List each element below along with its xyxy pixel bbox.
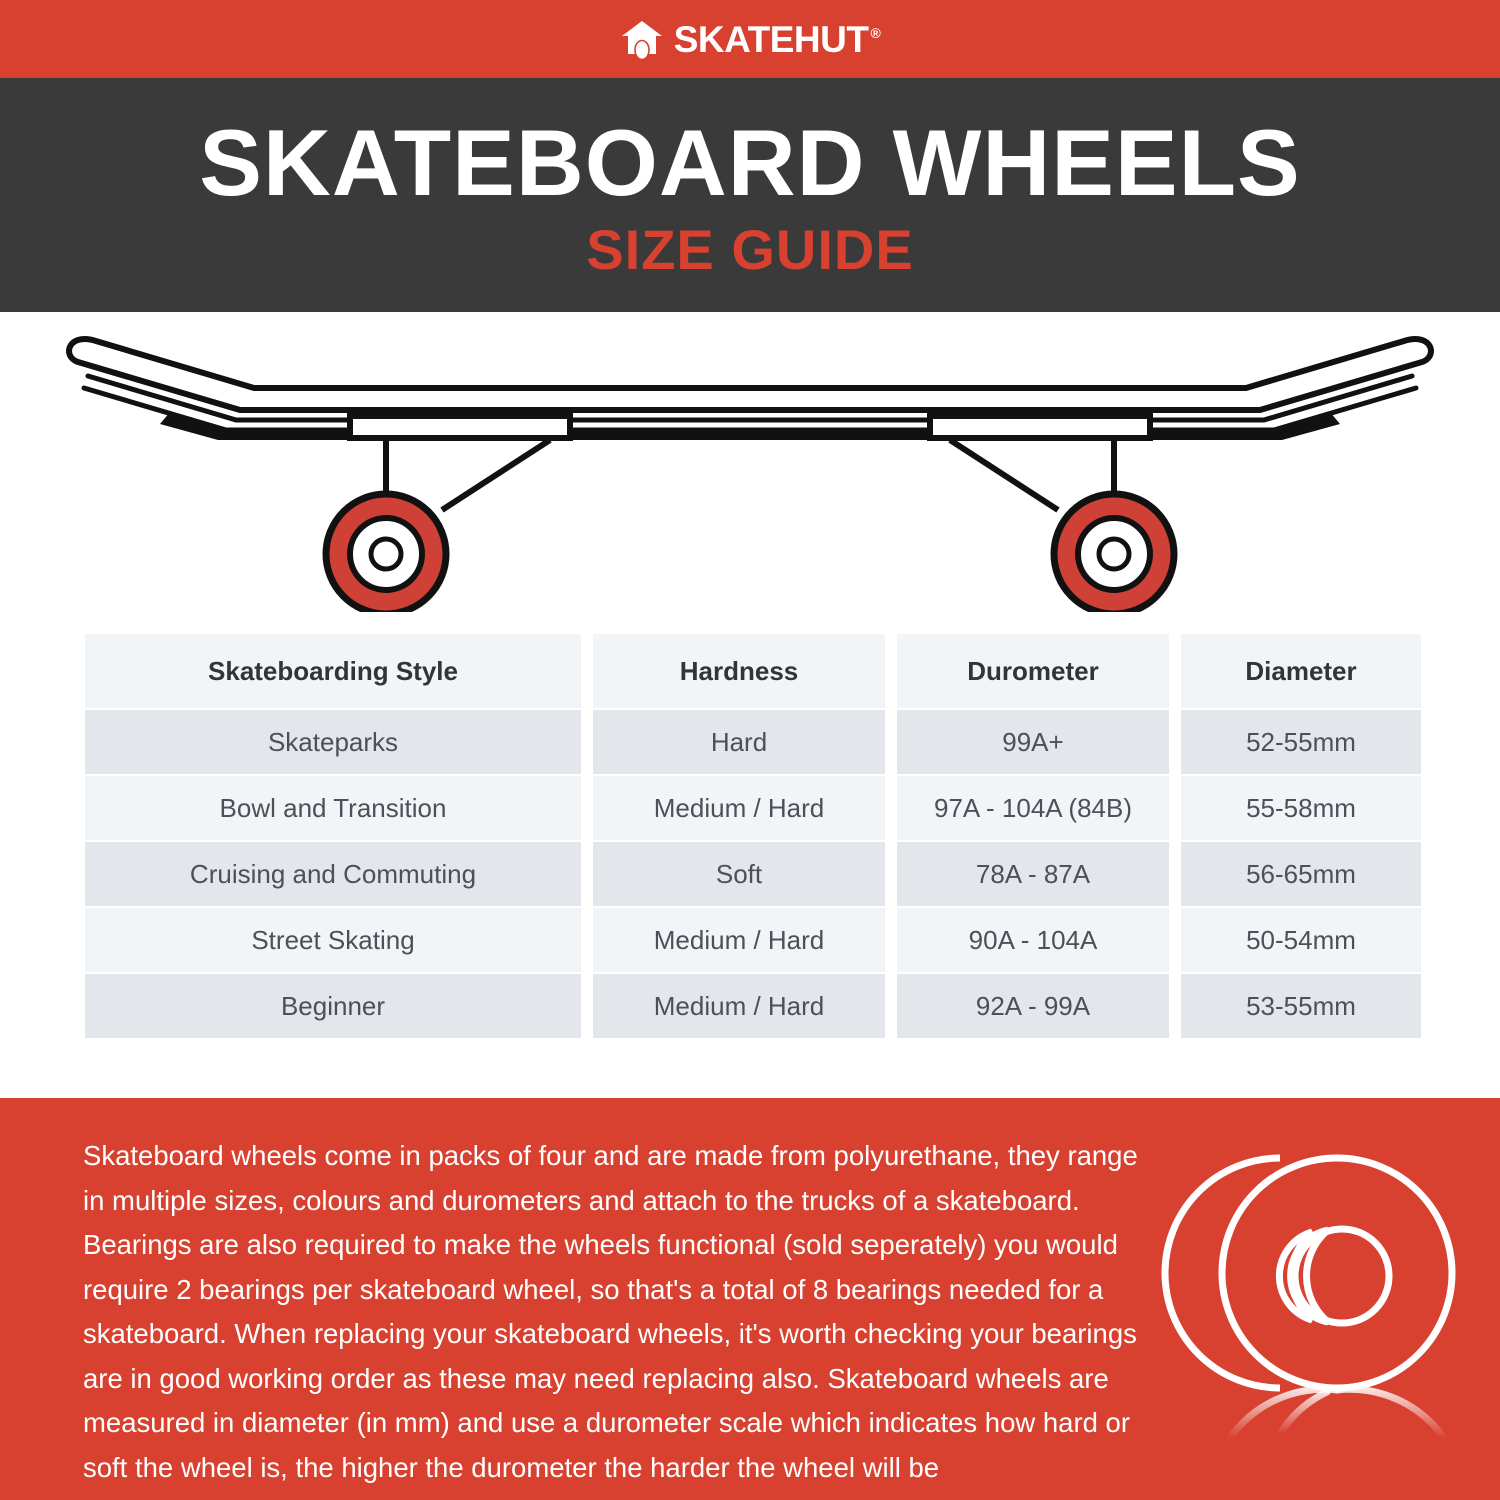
cell-hardness: Hard [593, 710, 885, 774]
table-row: Cruising and Commuting Soft 78A - 87A 56… [85, 842, 1421, 906]
brand-logo[interactable]: SKATEHUT® [620, 19, 881, 59]
left-wheel [326, 494, 446, 612]
page-title: SKATEBOARD WHEELS [199, 116, 1301, 210]
cell-style: Bowl and Transition [85, 776, 581, 840]
brand-name-wrap: SKATEHUT® [674, 21, 881, 58]
cell-diameter: 53-55mm [1181, 974, 1421, 1038]
skateboard-illustration [50, 312, 1450, 612]
cell-hardness: Medium / Hard [593, 776, 885, 840]
size-guide-table: Skateboarding Style Hardness Durometer D… [73, 632, 1433, 1040]
cell-style: Cruising and Commuting [85, 842, 581, 906]
brand-bar: SKATEHUT® [0, 0, 1500, 78]
cell-diameter: 56-65mm [1181, 842, 1421, 906]
cell-hardness: Soft [593, 842, 885, 906]
table-row: Skateparks Hard 99A+ 52-55mm [85, 710, 1421, 774]
column-header-style: Skateboarding Style [85, 634, 581, 708]
cell-durometer: 97A - 104A (84B) [897, 776, 1169, 840]
column-header-durometer: Durometer [897, 634, 1169, 708]
cell-style: Beginner [85, 974, 581, 1038]
cell-hardness: Medium / Hard [593, 908, 885, 972]
brand-name: SKATEHUT [674, 19, 869, 60]
cell-style: Street Skating [85, 908, 581, 972]
skatehut-hut-icon [620, 19, 664, 59]
illustration-area [0, 312, 1500, 632]
table-header-row: Skateboarding Style Hardness Durometer D… [85, 634, 1421, 708]
cell-diameter: 50-54mm [1181, 908, 1421, 972]
table-row: Beginner Medium / Hard 92A - 99A 53-55mm [85, 974, 1421, 1038]
title-band: SKATEBOARD WHEELS SIZE GUIDE [0, 78, 1500, 312]
cell-diameter: 55-58mm [1181, 776, 1421, 840]
cell-durometer: 90A - 104A [897, 908, 1169, 972]
registered-mark: ® [870, 25, 880, 41]
footer-panel: Skateboard wheels come in packs of four … [0, 1098, 1500, 1500]
skate-wheel-outline-icon [1152, 1138, 1482, 1448]
cell-durometer: 78A - 87A [897, 842, 1169, 906]
right-wheel [1054, 494, 1174, 612]
table-row: Bowl and Transition Medium / Hard 97A - … [85, 776, 1421, 840]
page-subtitle: SIZE GUIDE [586, 222, 913, 278]
size-guide-table-wrap: Skateboarding Style Hardness Durometer D… [0, 632, 1500, 1040]
footer-paragraph: Skateboard wheels come in packs of four … [83, 1134, 1158, 1490]
cell-style: Skateparks [85, 710, 581, 774]
cell-durometer: 92A - 99A [897, 974, 1169, 1038]
cell-diameter: 52-55mm [1181, 710, 1421, 774]
cell-durometer: 99A+ [897, 710, 1169, 774]
column-header-hardness: Hardness [593, 634, 885, 708]
table-row: Street Skating Medium / Hard 90A - 104A … [85, 908, 1421, 972]
column-header-diameter: Diameter [1181, 634, 1421, 708]
cell-hardness: Medium / Hard [593, 974, 885, 1038]
